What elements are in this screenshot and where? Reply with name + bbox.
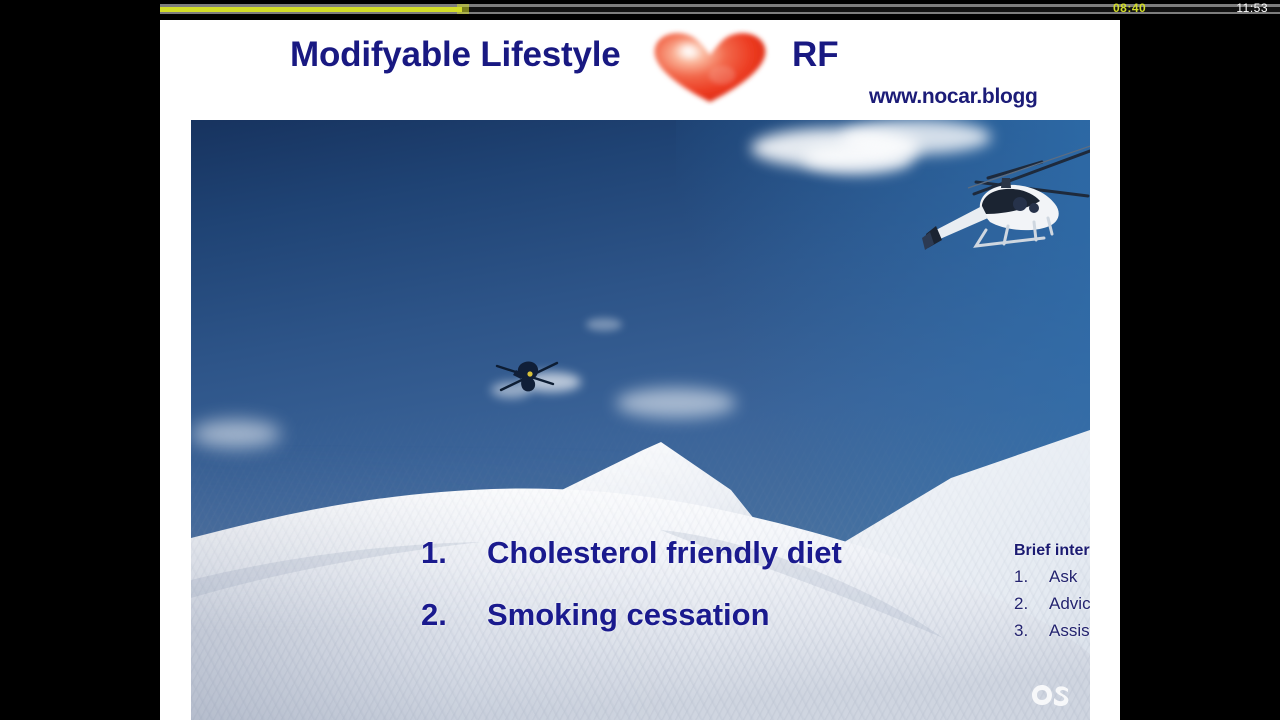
site-url-label: www.nocar.blogg bbox=[869, 85, 1038, 109]
progress-bar-handle[interactable] bbox=[457, 4, 469, 14]
page-title-suffix: RF bbox=[792, 35, 839, 75]
slide-photo: 1. Cholesterol friendly diet 2. Smoking … bbox=[191, 120, 1090, 720]
list-item: 2. Smoking cessation bbox=[421, 597, 941, 633]
side-panel-heading: Brief intervention bbox=[1014, 542, 1090, 560]
side-item-number: 2. bbox=[1014, 594, 1049, 614]
progress-bar-track[interactable] bbox=[160, 4, 1280, 14]
os-watermark-logo bbox=[1030, 682, 1072, 708]
elapsed-time-label: 08:40 bbox=[1113, 1, 1146, 15]
list-item: 1. Ask bbox=[1014, 567, 1090, 587]
bullet-number: 1. bbox=[421, 535, 487, 571]
side-item-number: 3. bbox=[1014, 621, 1049, 641]
bullet-number: 2. bbox=[421, 597, 487, 633]
side-item-label: Assist bbox=[1049, 621, 1090, 641]
cloud-shape bbox=[586, 318, 622, 331]
side-item-label: Advice bbox=[1049, 594, 1090, 614]
presentation-slide: Modifyable Lifestyle bbox=[160, 20, 1120, 720]
heart-icon bbox=[648, 28, 772, 106]
list-item: 2. Advice bbox=[1014, 594, 1090, 614]
list-item: 1. Cholesterol friendly diet bbox=[421, 535, 941, 571]
duration-time-label: 11:53 bbox=[1236, 1, 1268, 15]
side-item-number: 1. bbox=[1014, 567, 1049, 587]
player-control-bar: 08:40 11:53 bbox=[160, 0, 1280, 20]
side-item-label: Ask bbox=[1049, 567, 1077, 587]
list-item: 3. Assist bbox=[1014, 621, 1090, 641]
progress-bar-fill bbox=[160, 7, 462, 12]
brief-intervention-panel: Brief intervention 1. Ask 2. Advice 3. A… bbox=[1014, 542, 1090, 648]
video-player: 08:40 11:53 Modifyable Lifestyle bbox=[0, 0, 1280, 720]
bullet-label: Smoking cessation bbox=[487, 597, 770, 633]
bullet-label: Cholesterol friendly diet bbox=[487, 535, 842, 571]
bullet-list: 1. Cholesterol friendly diet 2. Smoking … bbox=[421, 535, 941, 659]
slide-header: Modifyable Lifestyle bbox=[160, 20, 1120, 120]
helicopter-icon bbox=[916, 122, 1090, 262]
page-title: Modifyable Lifestyle bbox=[290, 35, 621, 75]
